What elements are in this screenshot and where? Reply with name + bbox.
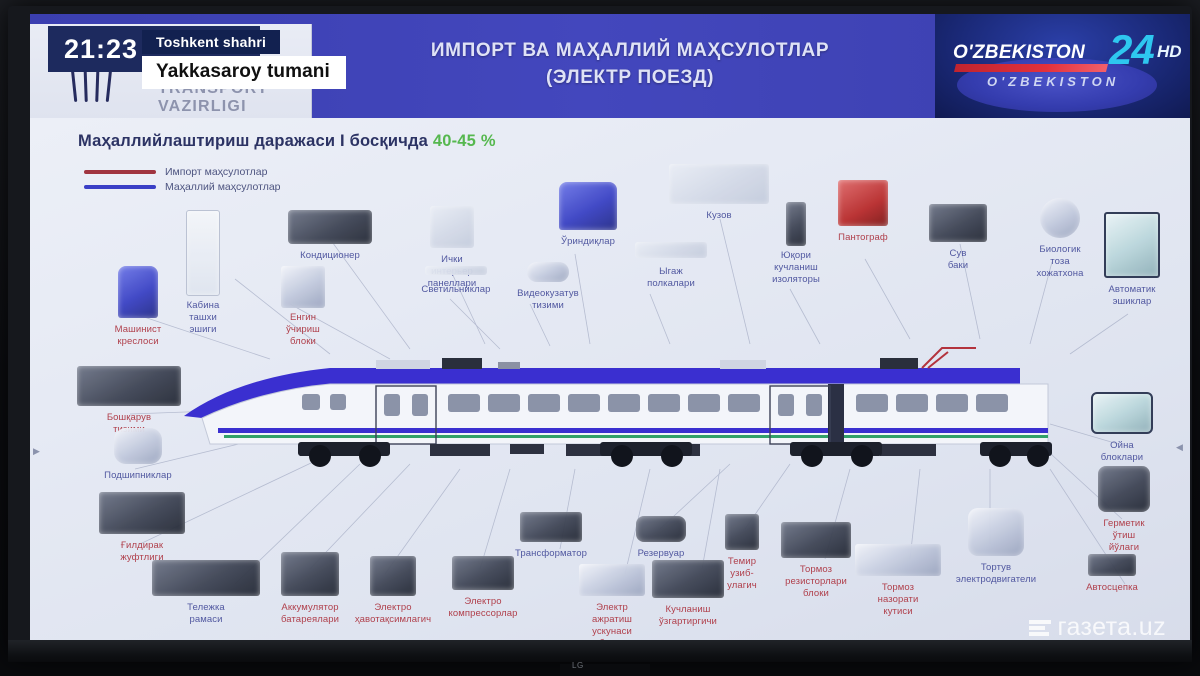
part-thumb-bio-toilet bbox=[1040, 198, 1080, 238]
part-label: Тормоз резисторлари блоки bbox=[785, 564, 847, 600]
legend-label-import: Импорт маҳсулотлар bbox=[165, 166, 267, 178]
part-thumb-fire-suppression bbox=[281, 266, 325, 308]
location-region: Toshkent shahri bbox=[142, 30, 280, 54]
localization-subtitle-text: Маҳаллийлаштириш даражаси I босқичда bbox=[78, 132, 433, 150]
legend-item-import: Импорт маҳсулотлар bbox=[84, 164, 281, 179]
part-thumb-coupler bbox=[1088, 554, 1136, 576]
part-label: Трансформатор bbox=[515, 548, 587, 560]
train-illustration bbox=[180, 344, 1060, 474]
part-label: Пантограф bbox=[838, 232, 888, 244]
channel-logo: O'ZBEKISTON 24 HD O'ZBEKISTON bbox=[935, 14, 1190, 118]
part-label: Автосцепка bbox=[1086, 582, 1138, 594]
legend-item-local: Маҳаллий маҳсулотлар bbox=[84, 179, 281, 194]
part-thumb-transformer bbox=[520, 512, 582, 542]
slide-title-line2: (ЭЛЕКТР ПОЕЗД) bbox=[330, 65, 930, 92]
part-thumb-automatic-doors bbox=[1104, 212, 1160, 278]
part-thumb-wheelset bbox=[99, 492, 185, 534]
slide-title: ИМПОРТ ВА МАҲАЛЛИЙ МАҲСУЛОТЛАР (ЭЛЕКТР П… bbox=[330, 38, 930, 92]
presentation-slide: O' TRANSPORT VAZIRLIGI ИМПОРТ ВА МАҲАЛЛИ… bbox=[30, 14, 1190, 654]
part-thumb-pantograph bbox=[838, 180, 888, 226]
slide-title-line1: ИМПОРТ ВА МАҲАЛЛИЙ МАҲСУЛОТЛАР bbox=[330, 38, 930, 65]
part-label: Электро компрессорлар bbox=[448, 596, 517, 620]
part-thumb-light-fixtures bbox=[425, 266, 487, 275]
part-label: Биологик тоза хожатхона bbox=[1036, 244, 1084, 280]
watermark: газета.uz bbox=[1029, 613, 1166, 642]
part-thumb-bearings bbox=[114, 428, 162, 464]
part-label: Резервуар bbox=[638, 548, 685, 560]
part-thumb-air-conditioner bbox=[288, 210, 372, 244]
part-label: Ойна блоклари bbox=[1099, 440, 1145, 464]
part-thumb-compressors bbox=[452, 556, 514, 590]
localization-percent: 40-45 % bbox=[433, 132, 496, 150]
localization-subtitle: Маҳаллийлаштириш даражаси I босқичда 40-… bbox=[78, 132, 496, 151]
part-thumb-interior-panels bbox=[430, 206, 474, 248]
part-label: Темир узиб-улагич bbox=[722, 556, 762, 592]
logo-channel-number: 24 bbox=[1109, 26, 1154, 74]
tv-screen: O' TRANSPORT VAZIRLIGI ИМПОРТ ВА МАҲАЛЛИ… bbox=[30, 14, 1190, 654]
watermark-icon bbox=[1029, 618, 1051, 638]
part-thumb-voltage-converter bbox=[652, 560, 724, 598]
part-label: Енгин ўчириш блоки bbox=[279, 312, 327, 348]
part-label: Светильниклар bbox=[421, 284, 490, 296]
projector-edge-marker-right: ◀ bbox=[1176, 442, 1183, 453]
tv-frame: O' TRANSPORT VAZIRLIGI ИМПОРТ ВА МАҲАЛЛИ… bbox=[8, 6, 1192, 658]
part-label: Тортув электродвигатели bbox=[956, 562, 1036, 586]
part-thumb-air-distributor bbox=[370, 556, 416, 596]
part-thumb-reservoir bbox=[636, 516, 686, 542]
legend: Импорт маҳсулотлар Маҳаллий маҳсулотлар bbox=[84, 164, 281, 194]
part-label: Ўриндиқлар bbox=[561, 236, 615, 248]
part-thumb-bogie-frame bbox=[152, 560, 260, 596]
part-label: Юқори кучланиш изоляторы bbox=[772, 250, 820, 286]
tv-bezel-bottom bbox=[8, 640, 1192, 662]
legend-swatch-local bbox=[84, 185, 156, 189]
part-thumb-window-blocks bbox=[1091, 392, 1153, 434]
part-thumb-battery-pack bbox=[281, 552, 339, 596]
part-thumb-luggage-racks bbox=[635, 242, 707, 258]
part-label: Герметик ўтиш йўлаги bbox=[1100, 518, 1148, 554]
legend-label-local: Маҳаллий маҳсулотлар bbox=[165, 181, 281, 193]
part-thumb-carbody bbox=[669, 164, 769, 204]
location-district: Yakkasaroy tumani bbox=[142, 56, 346, 89]
part-thumb-cctv-system bbox=[527, 262, 569, 282]
part-thumb-gangway bbox=[1098, 466, 1150, 512]
part-thumb-cabin-door bbox=[186, 210, 220, 296]
logo-sub-text: O'ZBEKISTON bbox=[987, 74, 1119, 89]
legend-swatch-import bbox=[84, 170, 156, 174]
logo-hd-badge: HD bbox=[1157, 42, 1182, 62]
part-label: Ыгаж полкалари bbox=[647, 266, 696, 290]
part-label: Автоматик эшиклар bbox=[1108, 284, 1155, 308]
part-label: Машинист креслоси bbox=[115, 324, 162, 348]
part-thumb-water-tank bbox=[929, 204, 987, 242]
part-thumb-traction-motor bbox=[968, 508, 1024, 556]
part-thumb-disconnector-block bbox=[579, 564, 645, 596]
part-thumb-brake-resistors bbox=[781, 522, 851, 558]
screenshot-root: O' TRANSPORT VAZIRLIGI ИМПОРТ ВА МАҲАЛЛИ… bbox=[0, 0, 1200, 676]
part-label: Подшипниклар bbox=[104, 470, 172, 482]
part-label: Сув баки bbox=[938, 248, 978, 272]
location-lower-third: Toshkent shahri Yakkasaroy tumani bbox=[142, 30, 346, 89]
part-thumb-brake-control-box bbox=[855, 544, 941, 576]
part-thumb-circuit-breaker bbox=[725, 514, 759, 550]
projector-edge-marker-left: ▶ bbox=[33, 446, 40, 457]
watermark-text: газета.uz bbox=[1058, 613, 1166, 642]
part-label: Электро ҳавотақсимлагич bbox=[355, 602, 431, 626]
part-thumb-passenger-seats bbox=[559, 182, 617, 230]
part-label: Аккумулятор батареялари bbox=[281, 602, 339, 626]
part-thumb-hv-insulator bbox=[786, 202, 806, 246]
logo-main-text: O'ZBEKISTON bbox=[953, 42, 1085, 64]
logo-red-bar bbox=[954, 64, 1108, 72]
part-label: Видеокузатув тизими bbox=[517, 288, 579, 312]
part-label: Тормоз назорати кутиси bbox=[873, 582, 923, 618]
tv-brand-label: LG bbox=[572, 661, 584, 670]
part-label: Тележка рамаси bbox=[177, 602, 235, 626]
part-label: Кучланиш ўзгартиргичи bbox=[659, 604, 717, 628]
part-label: Кузов bbox=[706, 210, 731, 222]
part-thumb-control-system bbox=[77, 366, 181, 406]
clock-time: 21:23 bbox=[64, 34, 138, 65]
part-label: Кондиционер bbox=[300, 250, 360, 262]
part-thumb-driver-seat bbox=[118, 266, 158, 318]
part-label: Кабина ташхи эшиги bbox=[176, 300, 231, 336]
